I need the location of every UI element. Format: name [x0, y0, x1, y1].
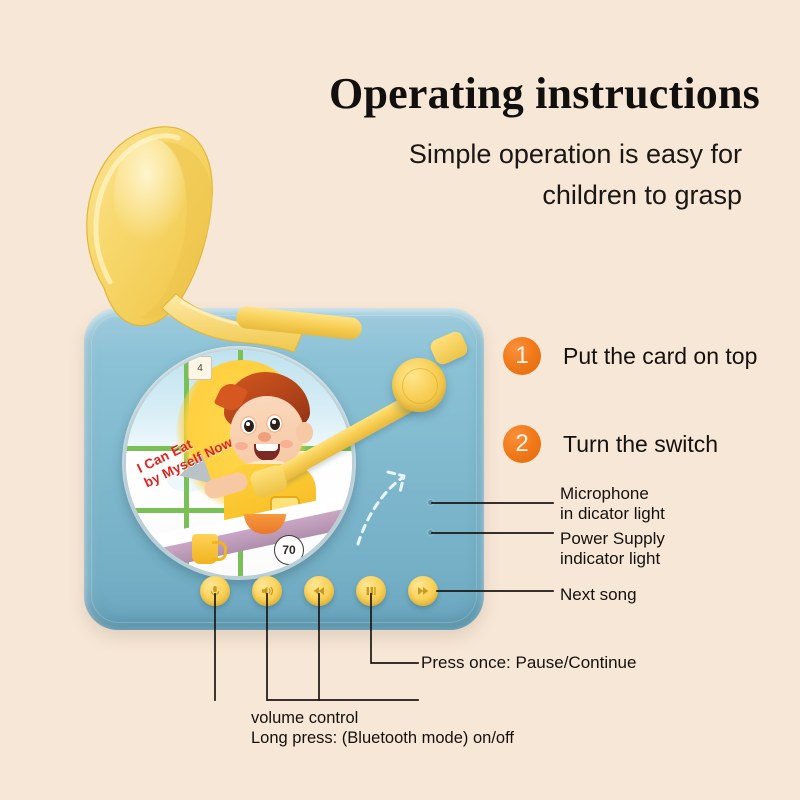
microphone-button[interactable] — [200, 576, 230, 606]
previous-icon — [304, 576, 334, 606]
play-pause-icon — [356, 576, 386, 606]
card-corner-tag: 4 — [188, 356, 212, 380]
callout-volume-control: volume control Long press: (Bluetooth mo… — [251, 708, 514, 748]
step-number-badge-2: 2 — [503, 425, 541, 463]
step-number-badge-1: 1 — [503, 337, 541, 375]
callout-next-song: Next song — [560, 585, 637, 605]
child-cheek — [280, 440, 293, 448]
step-label-1: Put the card on top — [563, 343, 757, 370]
callout-next-song-line-1: Next song — [560, 585, 637, 605]
callout-microphone-line-2: in dicator light — [560, 504, 665, 524]
next-icon — [408, 576, 438, 606]
callout-microphone: Microphone in dicator light — [560, 484, 665, 524]
callout-volume-line-1: volume control — [251, 708, 514, 728]
power-switch-knob[interactable] — [392, 358, 446, 412]
volume-icon — [252, 576, 282, 606]
callout-power-line-2: indicator light — [560, 549, 665, 569]
step-item-1: 1 Put the card on top — [503, 337, 757, 375]
step-label-2: Turn the switch — [563, 431, 718, 458]
play-pause-button[interactable] — [356, 576, 386, 606]
callout-microphone-line-1: Microphone — [560, 484, 665, 504]
subtitle-line-2: children to grasp — [312, 175, 742, 216]
child-ear — [296, 422, 313, 443]
callout-pause-line-1: Press once: Pause/Continue — [421, 653, 636, 673]
step-item-2: 2 Turn the switch — [503, 425, 718, 463]
callout-volume-line-2: Long press: (Bluetooth mode) on/off — [251, 728, 514, 748]
callout-power-line-1: Power Supply — [560, 529, 665, 549]
callout-pause-continue: Press once: Pause/Continue — [421, 653, 636, 673]
screenshot-root: Operating instructions Simple operation … — [0, 0, 800, 800]
page-title: Operating instructions — [0, 68, 760, 119]
rotation-arrow-icon — [352, 466, 442, 550]
next-song-button[interactable] — [408, 576, 438, 606]
card-number-badge: 70 — [274, 535, 304, 565]
subtitle-line-1: Simple operation is easy for — [312, 134, 742, 175]
page-subtitle: Simple operation is easy for children to… — [312, 134, 742, 216]
microphone-indicator-light — [428, 500, 433, 505]
microphone-icon — [200, 576, 230, 606]
card-cup-icon — [192, 534, 218, 564]
power-supply-indicator-light — [428, 530, 433, 535]
previous-song-button[interactable] — [304, 576, 334, 606]
volume-button[interactable] — [252, 576, 282, 606]
callout-power-supply: Power Supply indicator light — [560, 529, 665, 569]
